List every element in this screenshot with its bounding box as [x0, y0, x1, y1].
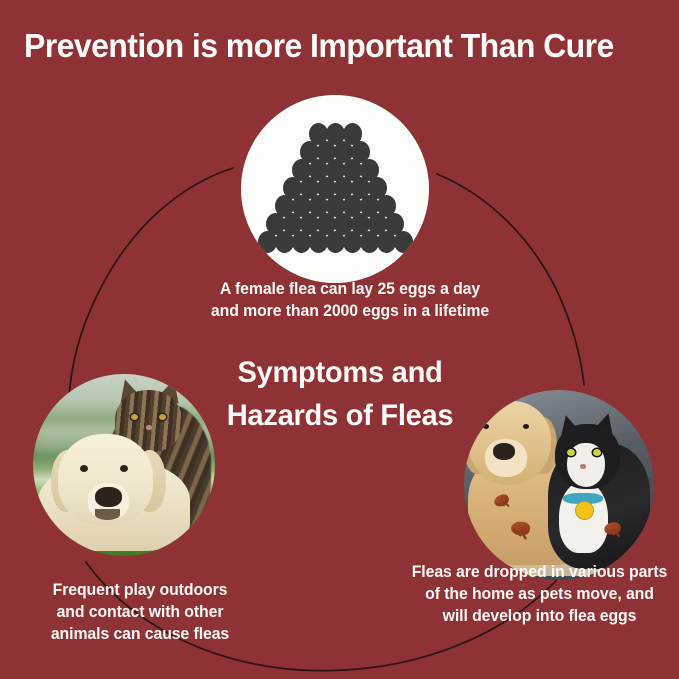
caption-flea-eggs: A female flea can lay 25 eggs a day and … [177, 279, 523, 323]
flea-icon [603, 522, 621, 536]
center-heading-line: Symptoms and [180, 352, 500, 395]
puppy-and-cat-photo [33, 374, 215, 556]
caption-line: and contact with other [11, 602, 268, 624]
tuxedo-cat-eye-left [567, 449, 575, 456]
egg [326, 231, 345, 253]
tuxedo-cat-eye-right [593, 449, 601, 456]
caption-home: Fleas are dropped in various parts of th… [406, 562, 674, 627]
caption-line: will develop into flea eggs [406, 606, 674, 628]
egg [275, 231, 294, 253]
caption-line: Fleas are dropped in various parts [406, 562, 674, 584]
caption-line: animals can cause fleas [11, 624, 268, 646]
node-flea-eggs [241, 95, 429, 283]
caption-line: Frequent play outdoors [11, 580, 268, 602]
page-title: Prevention is more Important Than Cure [24, 28, 645, 64]
cat-eye-right [159, 414, 166, 420]
flea-infographic: Prevention is more Important Than Cure A… [0, 0, 679, 679]
node-home-photo [464, 390, 654, 580]
egg [292, 231, 311, 253]
caption-line: of the home as pets move, and [406, 584, 674, 606]
dog-and-cat-with-fleas-photo [464, 390, 654, 580]
caption-outdoors: Frequent play outdoors and contact with … [11, 580, 268, 645]
tuxedo-cat-nose [580, 464, 586, 469]
dog-nose [95, 487, 122, 507]
node-outdoors-photo [33, 374, 215, 556]
egg [377, 231, 396, 253]
egg [258, 231, 277, 253]
center-heading: Symptoms and Hazards of Fleas [180, 352, 500, 437]
egg [394, 231, 413, 253]
center-heading-line: Hazards of Fleas [180, 395, 500, 438]
flea-eggs-pyramid-icon [259, 127, 412, 253]
caption-line: and more than 2000 eggs in a lifetime [177, 301, 523, 323]
egg [343, 231, 362, 253]
egg [309, 231, 328, 253]
cat-nose [146, 425, 152, 430]
egg [360, 231, 379, 253]
dog-mouth [95, 509, 120, 520]
retriever-nose [493, 443, 516, 460]
egg-row [259, 231, 412, 253]
caption-line: A female flea can lay 25 eggs a day [177, 279, 523, 301]
